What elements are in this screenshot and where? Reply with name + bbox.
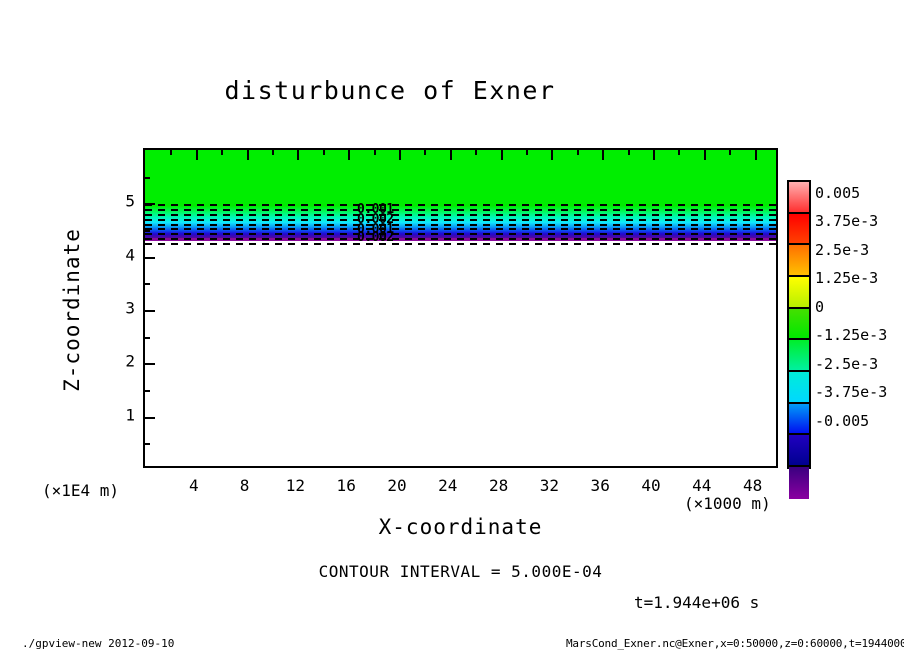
y-tick-major — [145, 203, 155, 205]
contour-line — [145, 224, 776, 226]
y-tick-major — [145, 310, 155, 312]
x-tick-minor — [221, 150, 223, 155]
x-tick-label: 8 — [240, 476, 250, 495]
x-tick-major — [348, 150, 350, 160]
x-tick-label: 32 — [540, 476, 559, 495]
colorbar-tick-label: 3.75e-3 — [815, 212, 878, 230]
x-tick-minor — [424, 150, 426, 155]
colorbar-tick-label: 1.25e-3 — [815, 269, 878, 287]
x-tick-label: 28 — [489, 476, 508, 495]
x-tick-minor — [323, 150, 325, 155]
y-tick-label: 1 — [113, 405, 135, 424]
x-tick-major — [297, 150, 299, 160]
x-tick-minor — [374, 150, 376, 155]
colorbar-segment-yellow — [789, 277, 809, 309]
x-tick-minor — [526, 150, 528, 155]
y-tick-label: 2 — [113, 352, 135, 371]
x-tick-minor — [170, 150, 172, 155]
colorbar-segment-blue — [789, 404, 809, 436]
colorbar-segment-pink-red — [789, 182, 809, 214]
colorbar-segment-violet — [789, 435, 809, 467]
y-tick-major — [145, 363, 155, 365]
x-axis-unit-label: (×1000 m) — [684, 494, 771, 513]
contour-interval-note: CONTOUR INTERVAL = 5.000E-04 — [143, 562, 778, 581]
contour-line — [145, 219, 776, 221]
page-title: disturbunce of Exner — [0, 76, 780, 105]
x-tick-label: 20 — [387, 476, 406, 495]
colorbar-tick-label: 2.5e-3 — [815, 241, 869, 259]
colorbar-tick-label: -1.25e-3 — [815, 326, 887, 344]
x-tick-major — [755, 150, 757, 160]
y-axis-unit-label: (×1E4 m) — [42, 481, 119, 500]
plot-canvas: 0.0010.0020.0010.002 — [143, 148, 778, 468]
y-tick-label: 4 — [113, 245, 135, 264]
contour-band-zero — [145, 150, 776, 206]
x-tick-major — [501, 150, 503, 160]
x-tick-major — [450, 150, 452, 160]
x-tick-label: 12 — [286, 476, 305, 495]
y-tick-minor — [145, 337, 150, 339]
x-tick-label: 24 — [438, 476, 457, 495]
colorbar-segment-red — [789, 214, 809, 246]
y-tick-minor — [145, 443, 150, 445]
y-tick-label: 3 — [113, 299, 135, 318]
contour-line — [145, 233, 776, 235]
colorbar-segment-purple — [789, 467, 809, 499]
y-tick-label: 5 — [113, 192, 135, 211]
time-annotation: t=1.944e+06 s — [634, 593, 759, 612]
colorbar-segment-spring-green — [789, 340, 809, 372]
x-tick-major — [196, 150, 198, 160]
x-tick-label: 44 — [692, 476, 711, 495]
colorbar-tick-label: 0.005 — [815, 184, 860, 202]
contour-line — [145, 209, 776, 211]
contour-line — [145, 228, 776, 230]
x-tick-label: 16 — [337, 476, 356, 495]
colorbar-tick-label: -3.75e-3 — [815, 383, 887, 401]
x-tick-minor — [678, 150, 680, 155]
contour-fill-layer — [145, 150, 776, 466]
x-axis-title: X-coordinate — [143, 515, 778, 539]
footer-dataset-info: MarsCond_Exner.nc@Exner,x=0:50000,z=0:60… — [566, 637, 904, 650]
colorbar-segment-orange — [789, 245, 809, 277]
x-tick-label: 4 — [189, 476, 199, 495]
contour-line — [145, 204, 776, 206]
contour-line — [145, 238, 776, 240]
colorbar — [787, 180, 811, 469]
x-tick-minor — [475, 150, 477, 155]
x-tick-label: 40 — [641, 476, 660, 495]
y-tick-minor — [145, 230, 150, 232]
y-tick-minor — [145, 283, 150, 285]
x-tick-label: 48 — [743, 476, 762, 495]
y-axis-title: Z-coordinate — [60, 228, 84, 392]
x-tick-label: 36 — [591, 476, 610, 495]
x-tick-minor — [729, 150, 731, 155]
x-tick-minor — [272, 150, 274, 155]
colorbar-tick-label: -2.5e-3 — [815, 355, 878, 373]
x-tick-major — [602, 150, 604, 160]
x-tick-major — [551, 150, 553, 160]
x-tick-major — [704, 150, 706, 160]
y-tick-major — [145, 417, 155, 419]
colorbar-tick-label: -0.005 — [815, 412, 869, 430]
y-tick-minor — [145, 390, 150, 392]
colorbar-segment-green — [789, 309, 809, 341]
x-tick-major — [247, 150, 249, 160]
y-tick-minor — [145, 177, 150, 179]
contour-line — [145, 243, 776, 245]
x-tick-minor — [577, 150, 579, 155]
x-tick-major — [399, 150, 401, 160]
x-tick-major — [653, 150, 655, 160]
colorbar-tick-label: 0 — [815, 298, 824, 316]
x-tick-minor — [628, 150, 630, 155]
contour-value-label: 0.002 — [357, 230, 394, 245]
footer-command: ./gpview-new 2012-09-10 — [22, 637, 174, 650]
y-tick-major — [145, 257, 155, 259]
colorbar-segment-cyan — [789, 372, 809, 404]
contour-line — [145, 214, 776, 216]
